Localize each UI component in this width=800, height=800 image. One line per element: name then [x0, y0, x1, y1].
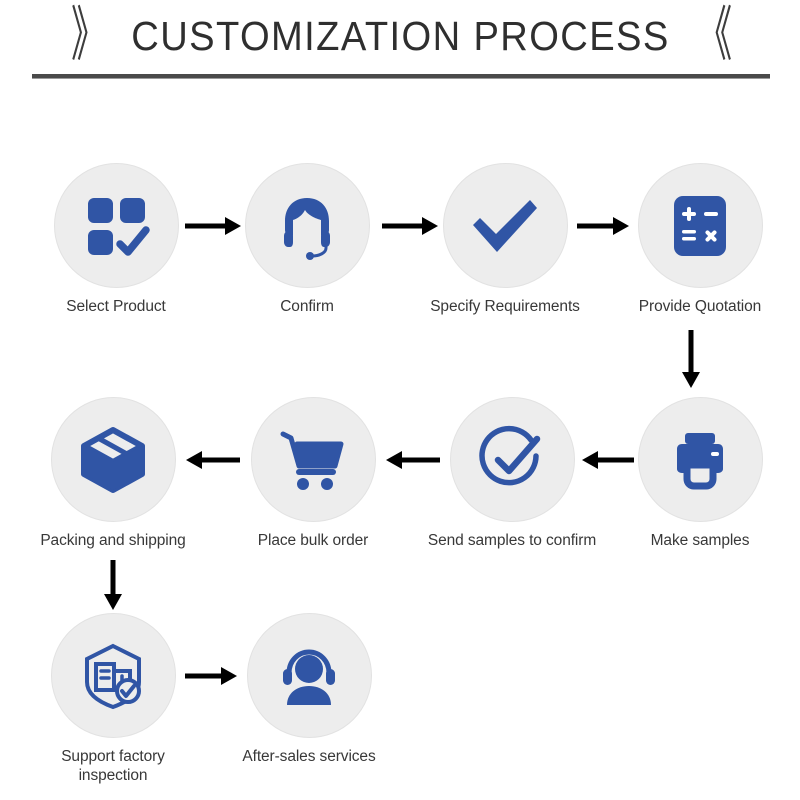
flow-step-after-sales[interactable]: After-sales services [234, 613, 384, 766]
connector-arrow-make-samples-to-send-samples [580, 447, 636, 473]
connector-arrow-select-product-to-confirm [183, 213, 243, 239]
flow-step-label: Specify Requirements [415, 297, 595, 316]
connector-arrow-inspection-to-after-sales [183, 663, 239, 689]
flow-step-icon-disc [51, 613, 176, 738]
factory-shield-check-icon [77, 640, 149, 712]
flow-step-icon-disc [51, 397, 176, 522]
flow-step-icon-disc [638, 163, 763, 288]
flow-step-icon-disc [450, 397, 575, 522]
arrow-down-icon [678, 328, 704, 390]
arrow-down-icon [100, 558, 126, 612]
checkmark-icon [467, 188, 543, 264]
arrow-right-icon [183, 663, 239, 689]
flow-step-label: Support factory inspection [38, 747, 188, 786]
connector-arrow-quotation-to-make-samples [678, 328, 704, 390]
connector-arrow-send-samples-to-bulk-order [384, 447, 442, 473]
connector-arrow-bulk-order-to-packing [184, 447, 242, 473]
process-flow-diagram: Select Product Confirm Specify Requireme… [0, 0, 800, 800]
flow-step-label: Place bulk order [238, 531, 388, 550]
flow-step-provide-quotation[interactable]: Provide Quotation [625, 163, 775, 316]
flow-step-icon-disc [245, 163, 370, 288]
connector-arrow-specify-to-quotation [575, 213, 631, 239]
flow-step-label: Make samples [625, 531, 775, 550]
flow-step-label: Select Product [41, 297, 191, 316]
flow-step-label: Provide Quotation [610, 297, 790, 316]
flow-step-select-product[interactable]: Select Product [41, 163, 191, 316]
circle-check-icon [475, 423, 549, 497]
arrow-left-icon [580, 447, 636, 473]
flow-step-label: Confirm [232, 297, 382, 316]
grid-check-icon [80, 190, 152, 262]
flow-step-icon-disc [251, 397, 376, 522]
flow-step-specify-requirements[interactable]: Specify Requirements [430, 163, 580, 316]
arrow-right-icon [380, 213, 440, 239]
flow-step-label: After-sales services [219, 747, 399, 766]
arrow-left-icon [384, 447, 442, 473]
flow-step-icon-disc [54, 163, 179, 288]
shopping-cart-icon [277, 424, 349, 496]
flow-step-send-samples[interactable]: Send samples to confirm [437, 397, 587, 550]
flow-step-icon-disc [638, 397, 763, 522]
flow-step-icon-disc [247, 613, 372, 738]
calculator-icon [666, 192, 734, 260]
flow-step-label: Packing and shipping [23, 531, 203, 550]
flow-step-confirm[interactable]: Confirm [232, 163, 382, 316]
person-headset-icon [274, 641, 344, 711]
flow-step-make-samples[interactable]: Make samples [625, 397, 775, 550]
arrow-right-icon [183, 213, 243, 239]
connector-arrow-confirm-to-specify [380, 213, 440, 239]
flow-step-packing-shipping[interactable]: Packing and shipping [38, 397, 188, 550]
arrow-right-icon [575, 213, 631, 239]
flow-step-icon-disc [443, 163, 568, 288]
printer-icon [665, 425, 735, 495]
flow-step-factory-inspection[interactable]: Support factory inspection [38, 613, 188, 786]
flow-step-label: Send samples to confirm [422, 531, 602, 550]
agent-headset-icon [271, 190, 343, 262]
arrow-left-icon [184, 447, 242, 473]
flow-step-place-bulk-order[interactable]: Place bulk order [238, 397, 388, 550]
package-box-icon [76, 423, 150, 497]
connector-arrow-packing-to-inspection [100, 558, 126, 612]
